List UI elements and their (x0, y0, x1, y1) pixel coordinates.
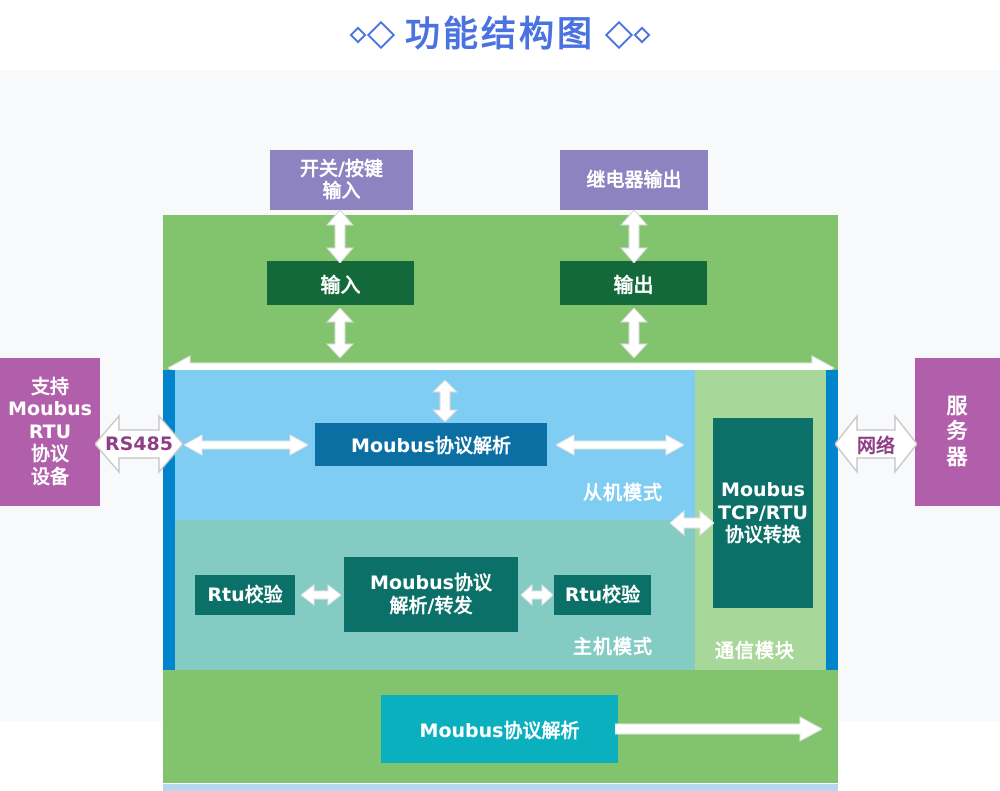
diamond-left-icon (352, 25, 391, 45)
arrow-rs485-connector: RS485 (95, 408, 183, 480)
arrow-output-to-bus-icon (619, 308, 649, 358)
arrow-rtu-left-to-forward-icon (301, 584, 341, 606)
rs485-label: RS485 (95, 408, 183, 480)
label-master-mode: 主机模式 (573, 632, 653, 659)
arrow-switch-to-input-icon (325, 210, 355, 263)
arrow-network-connector: 网络 (835, 408, 917, 480)
label-communication-module: 通信模块 (715, 636, 795, 663)
diagram-root: 功能结构图 开关/按键 输入 继电器输出 支持 Moubus RTU 协议 设备 (0, 0, 1000, 721)
box-modbus-protocol-parse: Moubus协议解析 (315, 423, 547, 466)
arrow-bottom-output-icon (615, 716, 822, 742)
page-title: 功能结构图 (405, 18, 595, 53)
modbus-fwd-line2: 解析/转发 (390, 595, 473, 617)
box-bottom-modbus-parse: Moubus协议解析 (381, 695, 618, 763)
box-rtu-check-left: Rtu校验 (195, 575, 295, 615)
arrow-relay-to-output-icon (619, 210, 649, 263)
arrow-input-to-bus-icon (325, 308, 355, 358)
diagram-canvas: 开关/按键 输入 继电器输出 支持 Moubus RTU 协议 设备 服 务 器… (0, 70, 1000, 721)
left-device-line5: 设备 (31, 466, 69, 488)
arrow-master-to-comm-icon (670, 510, 714, 536)
box-output: 输出 (560, 261, 707, 305)
tcp-rtu-line3: 协议转换 (725, 524, 801, 546)
label-slave-mode: 从机模式 (583, 478, 663, 505)
box-relay-output: 继电器输出 (560, 150, 708, 210)
server-line2: 务 (947, 419, 969, 443)
server-line1: 服 (947, 394, 969, 418)
box-modbus-rtu-device: 支持 Moubus RTU 协议 设备 (0, 358, 100, 506)
arrow-forward-to-rtu-right-icon (521, 584, 553, 606)
box-switch-button-input: 开关/按键 输入 (270, 150, 413, 210)
box-rtu-check-right: Rtu校验 (554, 575, 651, 615)
left-device-line2: Moubus (8, 398, 92, 420)
arrow-bus-to-parse-icon (431, 380, 459, 422)
left-device-line1: 支持 (31, 376, 69, 398)
left-device-line3: RTU (29, 421, 71, 443)
switch-input-line1: 开关/按键 (300, 158, 383, 180)
box-modbus-parse-forward: Moubus协议 解析/转发 (344, 557, 518, 632)
tcp-rtu-line2: TCP/RTU (718, 502, 808, 524)
box-modbus-tcp-rtu-convert: Moubus TCP/RTU 协议转换 (713, 418, 813, 608)
arrow-parse-to-comm-icon (556, 434, 684, 456)
bottom-edge-sliver (163, 784, 838, 791)
server-line3: 器 (947, 445, 969, 469)
box-input: 输入 (267, 261, 414, 305)
left-device-line4: 协议 (31, 443, 69, 465)
diamond-right-icon (609, 25, 648, 45)
tcp-rtu-line1: Moubus (721, 479, 805, 501)
modbus-fwd-line1: Moubus协议 (370, 572, 492, 594)
network-label: 网络 (835, 408, 917, 480)
box-server: 服 务 器 (915, 358, 1000, 506)
page-title-bar: 功能结构图 (0, 0, 1000, 70)
arrow-rs485-to-parse-icon (184, 434, 308, 456)
switch-input-line2: 输入 (322, 180, 360, 202)
